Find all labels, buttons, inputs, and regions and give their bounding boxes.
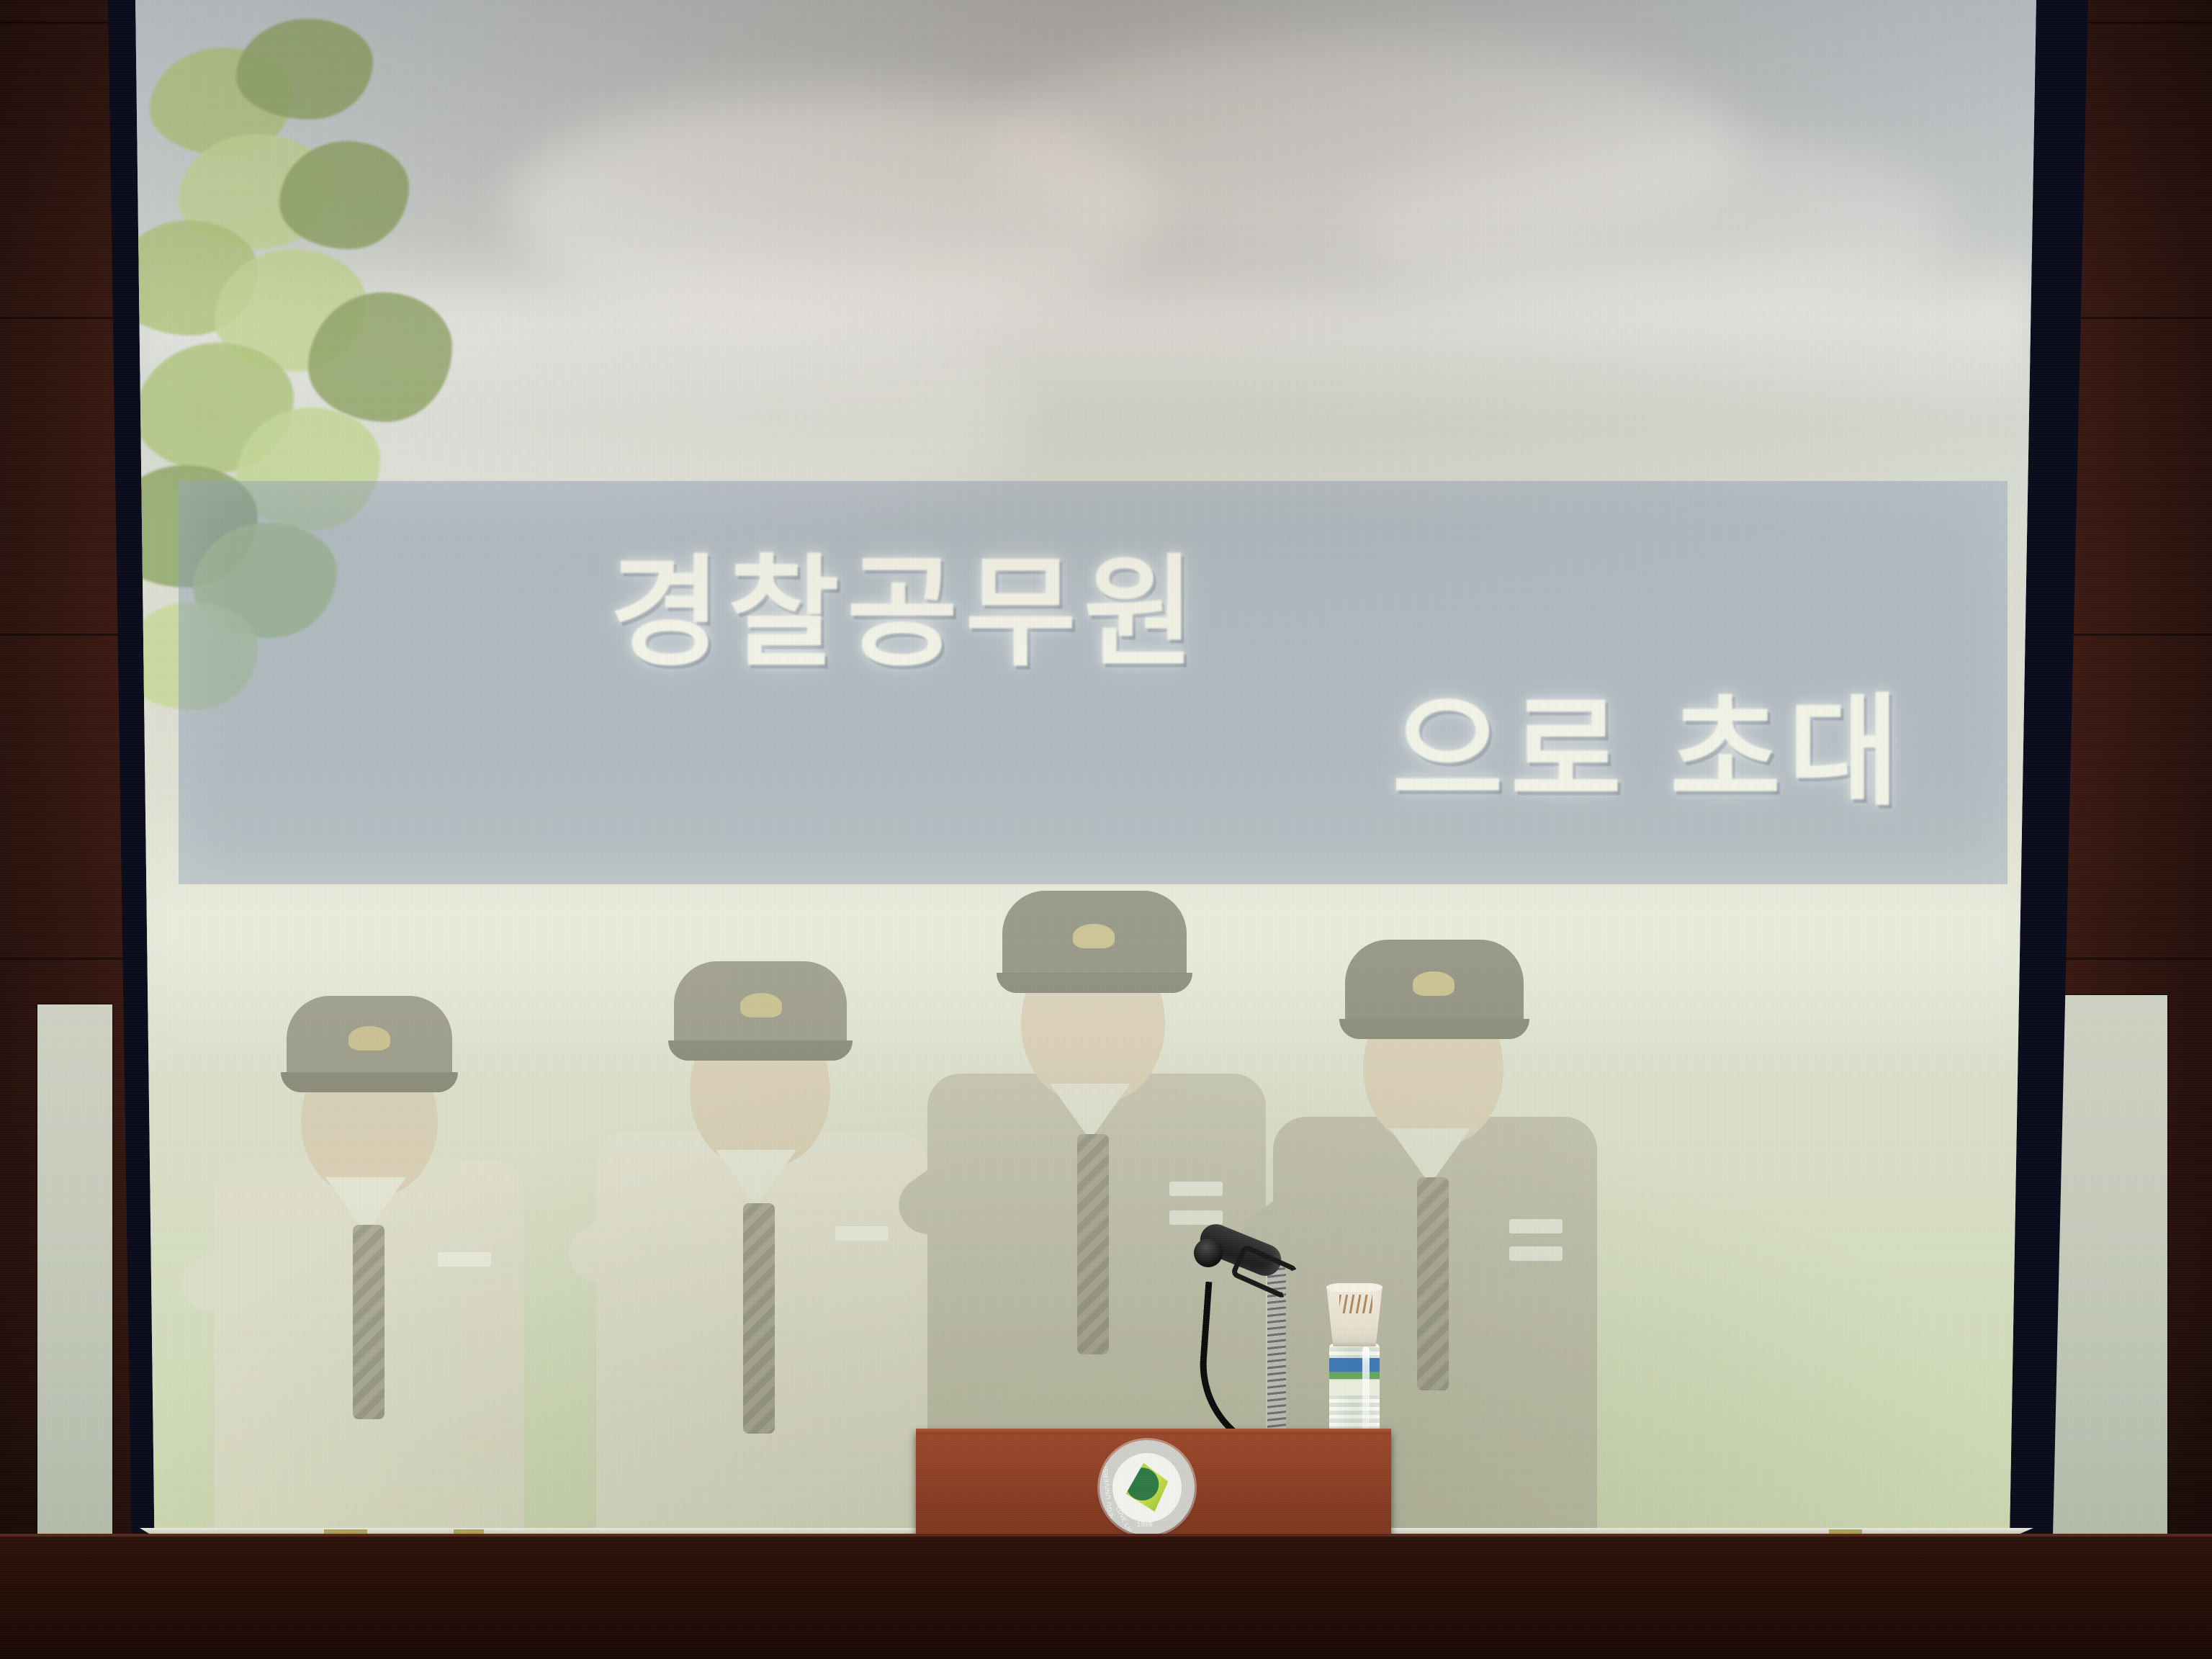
university-seal: DAEGU UNIVERSITY 1956 LOVE LIGHT LIBERTY <box>1100 1440 1195 1535</box>
seal-emblem-icon <box>1118 1458 1176 1516</box>
projected-slide: 경찰공무원 으로 초대 <box>135 0 2036 1534</box>
microphone <box>1190 1233 1341 1449</box>
left-wall-panel <box>37 1004 112 1552</box>
lecture-hall-scene: 경찰공무원 으로 초대 <box>0 0 2212 1659</box>
officer-2 <box>582 829 942 1534</box>
podium-top: DAEGU UNIVERSITY 1956 LOVE LIGHT LIBERTY <box>916 1429 1391 1538</box>
bottle-label <box>1329 1358 1380 1395</box>
seal-inner <box>1112 1453 1182 1522</box>
paper-cup-pattern-icon <box>1339 1295 1372 1313</box>
water-bottle <box>1323 1286 1385 1450</box>
paper-cup-rim <box>1326 1283 1382 1292</box>
stage-base <box>0 1537 2212 1659</box>
officer-1 <box>200 872 539 1534</box>
slide-title-line-2: 으로 초대 <box>179 691 2008 814</box>
slide-title: 경찰공무원 으로 초대 <box>179 481 2008 884</box>
paper-cup <box>1326 1286 1382 1346</box>
projection-screen: 경찰공무원 으로 초대 <box>108 0 2088 1552</box>
slide-title-line-1: 경찰공무원 <box>179 552 2008 675</box>
screen-surface: 경찰공무원 으로 초대 <box>135 0 2036 1534</box>
podium-top-edge <box>916 1429 1391 1434</box>
